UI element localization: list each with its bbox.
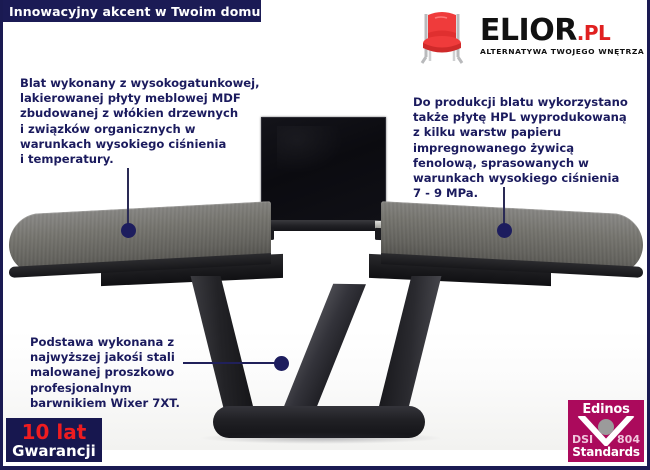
edinos-code-right: 804: [617, 433, 640, 446]
connector-line-hpl: [503, 187, 505, 225]
product-infographic: Innowacyjny akcent w Twoim domu!: [0, 0, 650, 470]
edinos-standards-badge: Edinos DSI 804 Standards: [568, 400, 644, 462]
connector-dot-mdf: [121, 223, 136, 238]
edinos-subtitle: Standards: [572, 445, 640, 459]
logo-wordmark: ELIOR .PL ALTERNATYWA TWOJEGO WNĘTRZA: [480, 16, 641, 56]
annotation-tabletop-hpl: Do produkcji blatu wykorzystano także pł…: [413, 95, 648, 201]
logo-tagline: ALTERNATYWA TWOJEGO WNĘTRZA: [480, 47, 644, 56]
connector-line-mdf: [127, 168, 129, 226]
headline-banner: Innowacyjny akcent w Twoim domu!: [3, 0, 261, 22]
edinos-code-left: DSI: [572, 433, 593, 446]
logo-brand: ELIOR: [480, 16, 577, 46]
brand-logo[interactable]: ELIOR .PL ALTERNATYWA TWOJEGO WNĘTRZA: [459, 3, 641, 69]
warranty-years: 10 lat: [22, 422, 87, 442]
connector-dot-base: [274, 356, 289, 371]
annotation-tabletop-mdf: Blat wykonany z wysokogatunkowej, lakier…: [20, 76, 280, 167]
warranty-badge: 10 lat Gwarancji: [6, 418, 102, 462]
connector-line-base: [183, 362, 278, 364]
red-chair-icon: [413, 5, 475, 67]
edinos-emblem: DSI 804: [570, 416, 642, 446]
headline-text: Innowacyjny akcent w Twoim domu!: [3, 4, 266, 19]
warranty-label: Gwarancji: [12, 444, 96, 459]
annotation-base-steel: Podstawa wykonana z najwyższej jakośi st…: [30, 335, 245, 411]
logo-brand-suffix: .PL: [577, 23, 611, 43]
edinos-title: Edinos: [582, 402, 629, 417]
floor-shadow: [199, 432, 443, 444]
connector-dot-hpl: [497, 223, 512, 238]
